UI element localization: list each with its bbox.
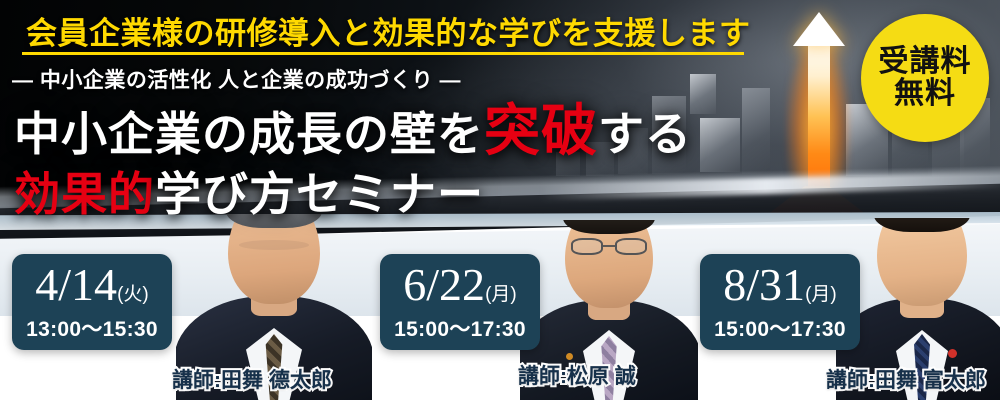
title-text-c: 学び方セミナー (155, 168, 484, 220)
session-date-value-3: 8/31 (723, 259, 805, 310)
session-card-1[interactable]: 4/14(火) 13:00〜15:30 (12, 254, 172, 350)
instructor-caption-2: 講師:松原 誠 (518, 360, 636, 390)
instructor-caption-1: 講師:田舞 德太郎 (172, 364, 332, 394)
session-dow-3: (月) (805, 284, 837, 305)
glasses-icon (569, 236, 649, 258)
session-time-3: 15:00〜17:30 (714, 313, 846, 343)
growth-arrow-icon (793, 12, 845, 46)
lapel-pin-icon (566, 353, 573, 360)
headline-underline (22, 52, 744, 55)
session-dow-2: (月) (485, 284, 517, 305)
title-text-b: する (598, 108, 692, 160)
free-tuition-badge: 受講料 無料 (861, 14, 989, 142)
seminar-banner: 会員企業様の研修導入と効果的な学びを支援します — 中小企業の活性化 人と企業の… (0, 0, 1000, 400)
badge-line-2: 無料 (894, 78, 956, 110)
title-emphasis-koukateki: 効果的 (14, 168, 155, 220)
instructor-caption-3: 講師:田舞 富太郎 (826, 364, 986, 394)
session-card-3[interactable]: 8/31(月) 15:00〜17:30 (700, 254, 860, 350)
session-date-2: 6/22(月) (403, 262, 516, 308)
page-headline: 会員企業様の研修導入と効果的な学びを支援します (26, 8, 751, 53)
session-date-value-1: 4/14 (35, 259, 117, 310)
session-date-1: 4/14(火) (35, 262, 148, 308)
session-card-2[interactable]: 6/22(月) 15:00〜17:30 (380, 254, 540, 350)
red-lapel-pin-icon (948, 349, 957, 358)
title-text-a: 中小企業の成長の壁を (14, 108, 484, 160)
session-time-1: 13:00〜15:30 (26, 313, 158, 343)
badge-line-1: 受講料 (879, 46, 972, 78)
page-subtitle: — 中小企業の活性化 人と企業の成功づくり — (12, 64, 461, 94)
main-title-line-2: 効果的学び方セミナー (14, 158, 484, 224)
session-date-value-2: 6/22 (403, 259, 485, 310)
main-title-line-1: 中小企業の成長の壁を突破する (14, 98, 692, 164)
session-date-3: 8/31(月) (723, 262, 836, 308)
session-dow-1: (火) (117, 284, 149, 305)
title-emphasis-toppa: 突破 (484, 99, 598, 162)
session-time-2: 15:00〜17:30 (394, 313, 526, 343)
